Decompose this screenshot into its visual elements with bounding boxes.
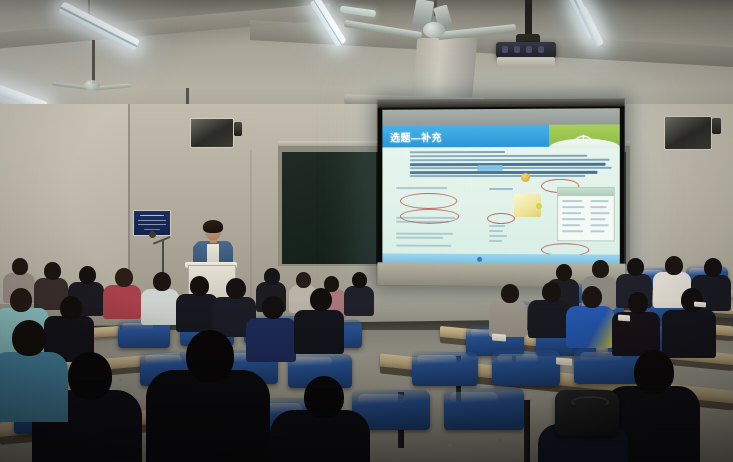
right-remote-holder[interactable] <box>712 118 721 134</box>
slide-text-line <box>410 175 585 178</box>
audience-head <box>582 286 602 308</box>
slide-table-cell <box>590 200 608 202</box>
classroom-scene: 选题—补充 <box>0 0 733 462</box>
audience-head <box>310 288 332 311</box>
fan-hub <box>84 80 100 91</box>
presenter-hair <box>203 220 223 233</box>
audience-head <box>226 278 246 299</box>
audience-head <box>304 376 344 418</box>
slide-table-cell <box>562 206 584 208</box>
audience-head <box>12 320 46 356</box>
slide-text-line <box>410 151 505 154</box>
audience-torso <box>566 306 614 348</box>
audience-head <box>79 266 96 284</box>
audience-head <box>681 288 703 312</box>
audience-head <box>190 276 209 296</box>
slide-badge-icon <box>521 173 530 182</box>
audience-torso <box>103 285 141 319</box>
slide-title: 选题—补充 <box>390 129 442 144</box>
microphone-icon <box>149 231 156 238</box>
chair-highlight <box>417 355 457 364</box>
fan-pole <box>92 40 95 84</box>
wall-seam <box>250 150 252 300</box>
projector-ceiling-plate <box>497 57 555 67</box>
slide-annotation-ellipse <box>400 209 459 224</box>
chair-highlight <box>293 357 331 366</box>
slide-subtext <box>396 187 447 189</box>
audience-head <box>296 272 311 288</box>
audience-head <box>264 268 280 285</box>
slide-table-cell <box>562 212 581 214</box>
slide-subtext <box>489 235 507 237</box>
slide-text-line-emphasis <box>410 171 598 174</box>
slide-footer-marker <box>477 257 482 262</box>
presentation-slide: 选题—补充 <box>382 124 619 263</box>
audience-torso <box>246 318 296 362</box>
notice-line <box>138 224 166 225</box>
audience-torso <box>0 352 68 422</box>
audience-head <box>501 284 519 303</box>
chair[interactable] <box>444 388 524 430</box>
audience-head <box>12 258 28 275</box>
audience-torso <box>294 310 344 354</box>
chair-highlight <box>145 355 182 364</box>
audience-head <box>153 272 171 291</box>
audience-head <box>556 264 572 281</box>
slide-text-line <box>410 155 588 158</box>
slide-table-cell <box>562 224 580 226</box>
slide-table-cell <box>590 224 608 226</box>
slide-subtext <box>396 233 453 235</box>
chair-highlight <box>358 394 405 404</box>
audience-head <box>592 260 609 278</box>
slide-table-cell <box>590 230 604 232</box>
slide-text-line <box>410 167 612 170</box>
chair[interactable] <box>492 350 560 386</box>
slide-table-cell <box>562 218 585 220</box>
notice-line <box>140 215 164 216</box>
paper-on-desk <box>694 302 706 308</box>
audience-torso <box>141 289 179 325</box>
projector-vent <box>538 46 544 53</box>
audience-head <box>628 292 648 314</box>
audience-torso <box>146 370 270 462</box>
audience-head <box>44 262 61 280</box>
backpack-strap <box>571 396 609 408</box>
projector <box>496 42 556 58</box>
notice-line <box>138 220 166 221</box>
slide-table-cell <box>590 206 606 208</box>
fan-hub <box>423 22 445 38</box>
left-remote-holder[interactable] <box>234 122 242 136</box>
audience-head <box>542 282 561 302</box>
audience-torso <box>489 301 527 337</box>
audience-torso <box>662 310 716 358</box>
slide-table-cell <box>562 230 583 232</box>
paper-on-desk <box>618 315 630 322</box>
left-wall-control-panel[interactable] <box>190 118 234 148</box>
audience-head <box>10 288 32 312</box>
audience-head <box>262 296 284 319</box>
screen-top-casing <box>377 98 624 108</box>
slide-subtext <box>489 225 505 227</box>
audience-head <box>68 352 112 400</box>
slide-text-line <box>410 159 610 162</box>
paper-on-desk <box>492 333 506 341</box>
audience-head <box>704 258 722 277</box>
slide-annotation-ellipse <box>487 213 515 224</box>
projector-mount-pole <box>525 0 532 36</box>
slide-subtext <box>489 230 503 232</box>
slide-table-cell <box>590 218 605 220</box>
slide-subtext <box>396 245 451 247</box>
audience-head <box>60 296 82 320</box>
slide-table-header <box>558 188 614 196</box>
projection-screen: 选题—补充 <box>377 98 624 287</box>
chair[interactable] <box>412 352 478 386</box>
right-wall-control-panel[interactable] <box>664 116 712 150</box>
projector-vent <box>526 46 532 53</box>
slide-annotation-ellipse <box>400 193 457 209</box>
audience-head <box>186 330 234 382</box>
slide-subtext <box>489 240 502 242</box>
slide-highlight-chip <box>477 165 503 171</box>
slide-photo-caption <box>489 188 513 190</box>
slide-text-line-emphasis <box>410 163 606 166</box>
chair-highlight <box>497 354 538 363</box>
backpack[interactable] <box>555 390 619 436</box>
desk-leg <box>524 400 530 462</box>
audience-head <box>634 350 674 394</box>
audience-head <box>352 272 367 288</box>
slide-subtext <box>396 237 443 239</box>
slide-embedded-table <box>557 187 615 241</box>
projector-lens <box>502 46 508 53</box>
slide-table-cell <box>562 200 582 202</box>
chair-highlight <box>450 392 498 403</box>
projector-vent <box>514 46 520 53</box>
audience-torso <box>528 300 570 338</box>
slide-table-cell <box>590 212 609 214</box>
audience-head <box>115 268 133 287</box>
slide-photo-marker <box>536 203 542 209</box>
audience-torso <box>344 286 374 316</box>
audience-head <box>665 256 683 275</box>
paper-on-desk <box>556 357 572 365</box>
audience-head <box>627 258 644 276</box>
